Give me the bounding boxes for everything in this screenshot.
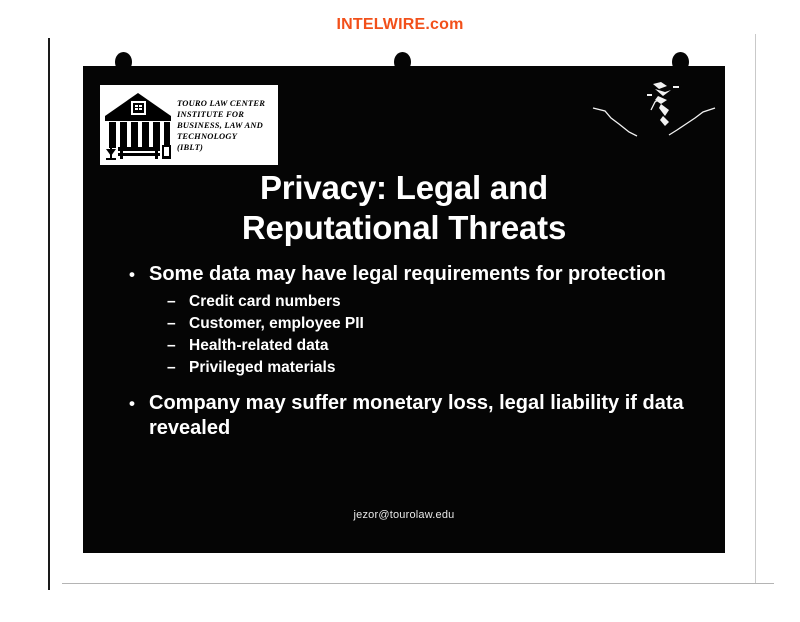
sub-bullet-item: – Customer, employee PII	[129, 313, 725, 335]
intelwire-watermark: INTELWIRE.com	[0, 16, 800, 34]
sub-bullet-list: – Credit card numbers – Customer, employ…	[129, 291, 725, 379]
sub-bullet-item: – Credit card numbers	[129, 291, 725, 313]
slide-body: • Some data may have legal requirements …	[129, 262, 725, 443]
bullet-text: Some data may have legal requirements fo…	[149, 262, 725, 287]
bullet-text: Company may suffer monetary loss, legal …	[149, 391, 725, 441]
dash-marker-icon: –	[167, 313, 189, 335]
classical-courthouse-icon	[102, 89, 174, 161]
page-right-rule	[755, 34, 756, 584]
touro-law-center-logo: TOURO LAW CENTER INSTITUTE FOR BUSINESS,…	[100, 85, 278, 165]
sub-bullet-item: – Privileged materials	[129, 357, 725, 379]
logo-text-block: TOURO LAW CENTER INSTITUTE FOR BUSINESS,…	[174, 98, 265, 153]
slide-title: Privacy: Legal and Reputational Threats	[83, 168, 725, 248]
sub-bullet-text: Customer, employee PII	[189, 313, 364, 335]
scanned-page: INTELWIRE.com	[0, 0, 800, 622]
logo-line-5: (IBLT)	[177, 142, 265, 153]
dash-marker-icon: –	[167, 291, 189, 313]
logo-line-3: BUSINESS, LAW AND	[177, 120, 265, 131]
slide-footer-email: jezor@tourolaw.edu	[83, 509, 725, 521]
logo-line-1: TOURO LAW CENTER	[177, 98, 265, 109]
dash-marker-icon: –	[167, 357, 189, 379]
sub-bullet-text: Health-related data	[189, 335, 329, 357]
logo-line-2: INSTITUTE FOR	[177, 109, 265, 120]
sub-bullet-text: Credit card numbers	[189, 291, 341, 313]
dash-marker-icon: –	[167, 335, 189, 357]
page-bottom-rule	[62, 583, 774, 584]
bullet-marker-icon: •	[129, 391, 149, 416]
bullet-item: • Some data may have legal requirements …	[129, 262, 725, 287]
bullet-marker-icon: •	[129, 262, 149, 287]
presentation-slide: TOURO LAW CENTER INSTITUTE FOR BUSINESS,…	[83, 66, 725, 553]
sub-bullet-item: – Health-related data	[129, 335, 725, 357]
logo-line-4: TECHNOLOGY	[177, 131, 265, 142]
bullet-item: • Company may suffer monetary loss, lega…	[129, 391, 725, 441]
slide-title-line-2: Reputational Threats	[83, 208, 725, 248]
page-left-rule	[48, 38, 50, 590]
white-scratch-artifact	[589, 80, 719, 158]
slide-title-line-1: Privacy: Legal and	[83, 168, 725, 208]
sub-bullet-text: Privileged materials	[189, 357, 335, 379]
